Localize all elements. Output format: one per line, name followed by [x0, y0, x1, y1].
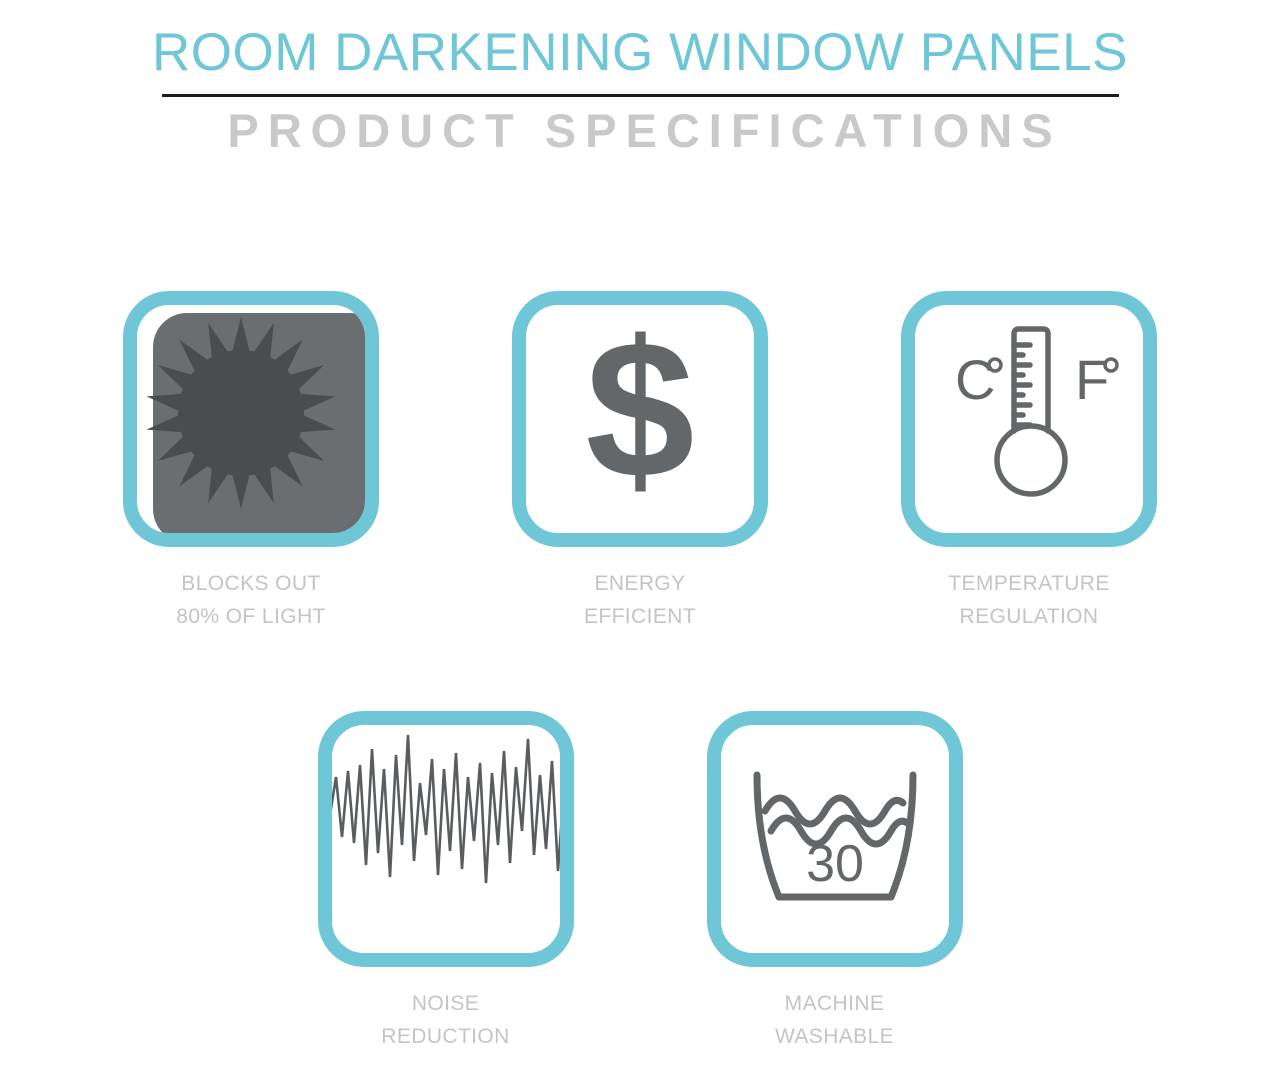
sun-blocked-icon: [137, 305, 365, 533]
sound-waveform-icon: [332, 725, 560, 953]
svg-text:$: $: [585, 305, 694, 519]
wash-tub-icon: 30: [721, 725, 949, 953]
feature-card-machine-washable[interactable]: 30 MACHINE WASHABLE: [707, 711, 963, 1053]
fahrenheit-label: F: [1075, 348, 1109, 411]
dollar-sign-icon: $: [526, 305, 754, 533]
caption-line: BLOCKS OUT: [176, 568, 326, 601]
title-divider: [162, 94, 1119, 97]
feature-caption-noise-reduction: NOISE REDUCTION: [381, 988, 509, 1053]
feature-card-temperature-regulation[interactable]: C F TEMPERATURE REGULATION: [901, 291, 1157, 633]
icon-tile-noise-reduction: [318, 711, 574, 967]
caption-line: 80% OF LIGHT: [176, 601, 326, 634]
feature-caption-machine-washable: MACHINE WASHABLE: [775, 988, 894, 1053]
caption-line: REGULATION: [948, 601, 1110, 634]
feature-caption-energy-efficient: ENERGY EFFICIENT: [584, 568, 696, 633]
feature-card-noise-reduction[interactable]: NOISE REDUCTION: [318, 711, 574, 1053]
caption-line: REDUCTION: [381, 1021, 509, 1054]
wash-temperature-label: 30: [806, 835, 864, 893]
caption-line: MACHINE: [775, 988, 894, 1021]
icon-tile-blocks-light: [123, 291, 379, 547]
feature-row-top: BLOCKS OUT 80% OF LIGHT $ ENERGY EFFICIE…: [0, 291, 1280, 633]
caption-line: TEMPERATURE: [948, 568, 1110, 601]
thermometer-icon: C F: [915, 305, 1143, 533]
feature-grid: BLOCKS OUT 80% OF LIGHT $ ENERGY EFFICIE…: [0, 291, 1280, 1053]
caption-line: WASHABLE: [775, 1021, 894, 1054]
icon-tile-temperature-regulation: C F: [901, 291, 1157, 547]
caption-line: ENERGY: [584, 568, 696, 601]
feature-caption-temperature-regulation: TEMPERATURE REGULATION: [948, 568, 1110, 633]
feature-card-energy-efficient[interactable]: $ ENERGY EFFICIENT: [512, 291, 768, 633]
feature-caption-blocks-light: BLOCKS OUT 80% OF LIGHT: [176, 568, 326, 633]
page-title: ROOM DARKENING WINDOW PANELS: [0, 26, 1280, 80]
caption-line: NOISE: [381, 988, 509, 1021]
feature-row-bottom: NOISE REDUCTION 30: [0, 711, 1280, 1053]
celsius-label: C: [955, 348, 995, 411]
page-header: ROOM DARKENING WINDOW PANELS PRODUCT SPE…: [0, 0, 1280, 155]
icon-tile-energy-efficient: $: [512, 291, 768, 547]
caption-line: EFFICIENT: [584, 601, 696, 634]
page-subtitle: PRODUCT SPECIFICATIONS: [0, 106, 1280, 155]
feature-card-blocks-light[interactable]: BLOCKS OUT 80% OF LIGHT: [123, 291, 379, 633]
icon-tile-machine-washable: 30: [707, 711, 963, 967]
